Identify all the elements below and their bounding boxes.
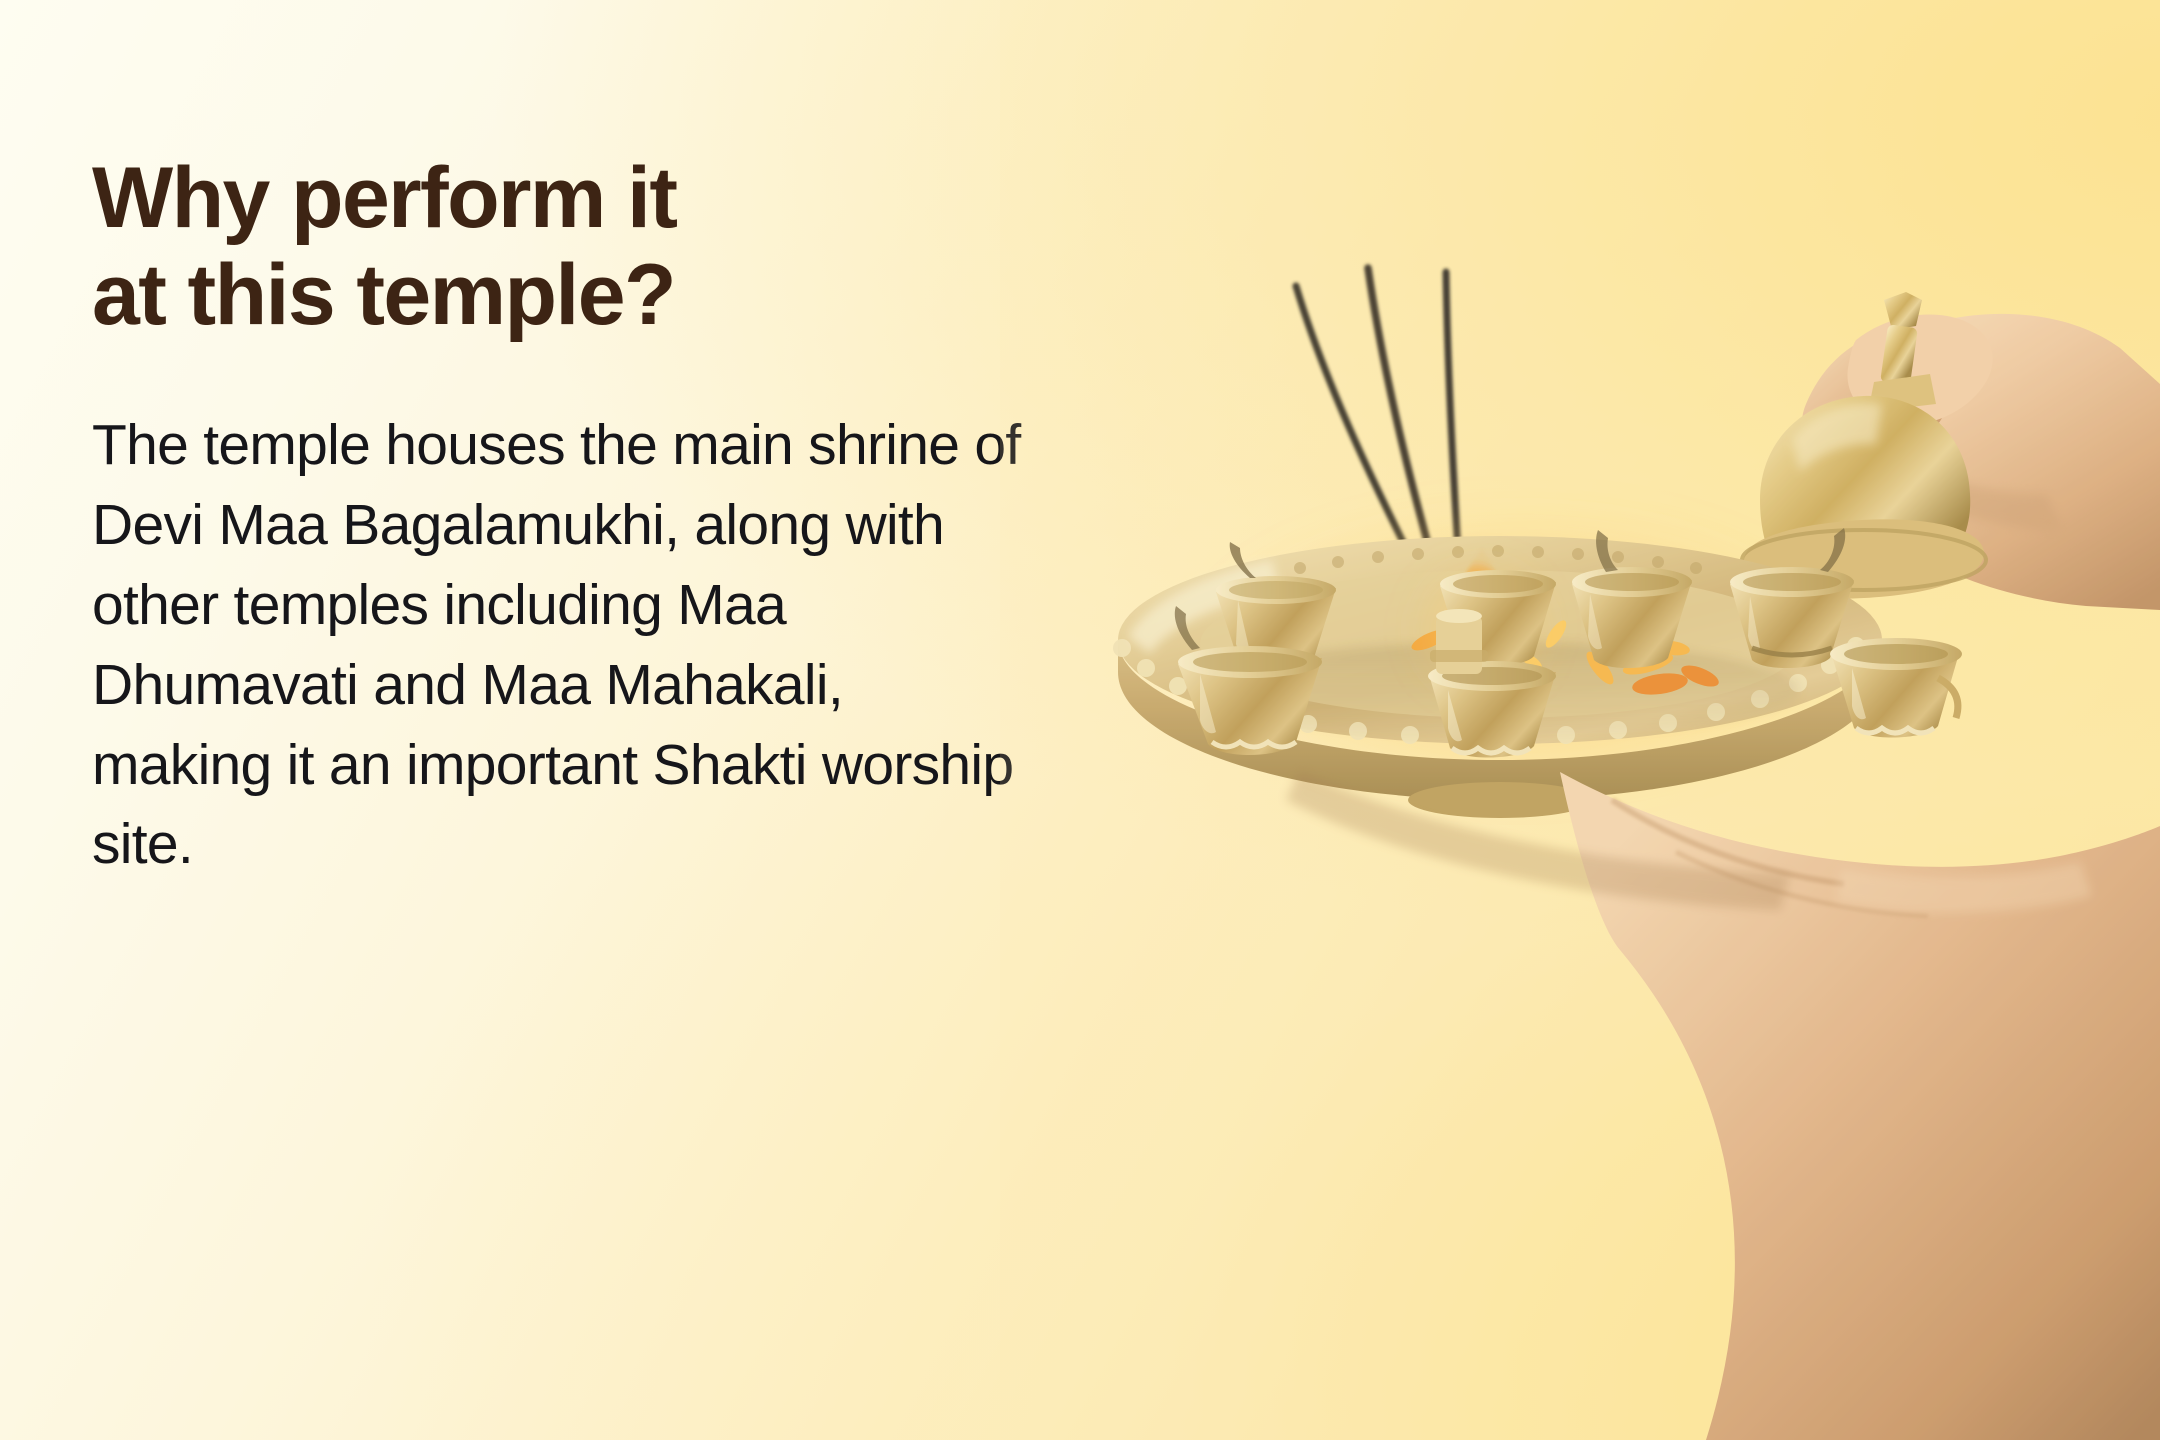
infographic-card: Why perform it at this temple? The templ…	[0, 0, 2160, 1440]
puja-thali-photo	[1000, 0, 2160, 1440]
text-column: Why perform it at this temple? The templ…	[92, 150, 1092, 885]
page-title: Why perform it at this temple?	[92, 150, 1092, 344]
body-paragraph: The temple houses the main shrine of Dev…	[92, 344, 1022, 885]
